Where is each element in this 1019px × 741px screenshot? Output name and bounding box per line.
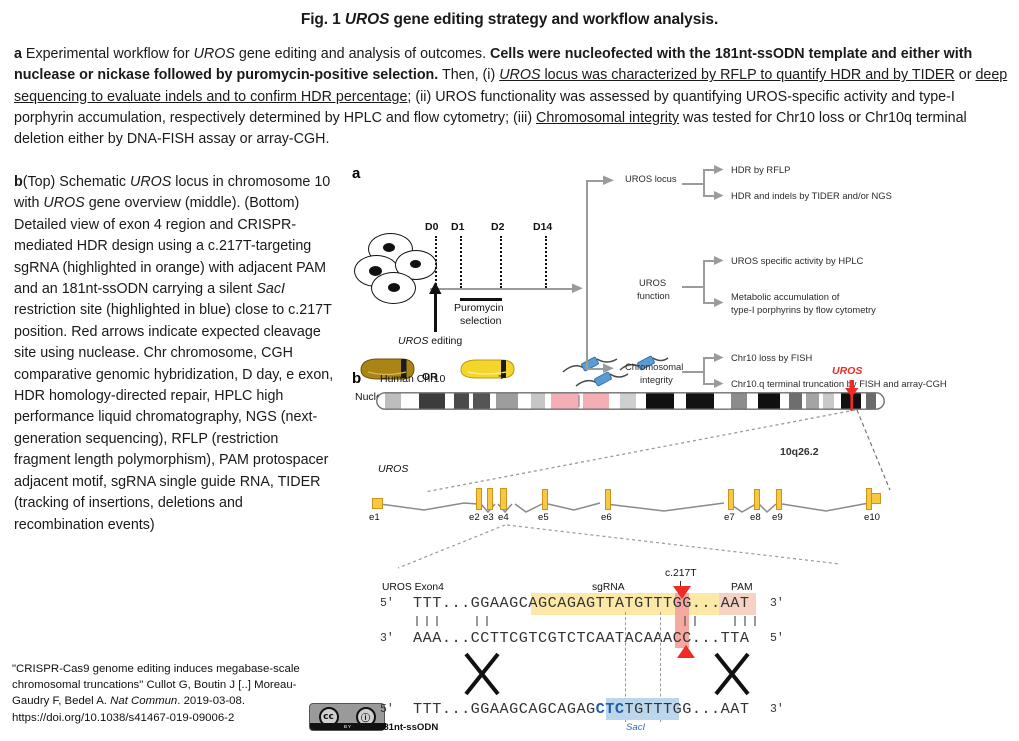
output-chr10-fish: Chr10 loss by FISH (731, 352, 812, 364)
branch-1-arrow-icon (603, 173, 619, 189)
exon-label-e1: e1 (369, 512, 380, 524)
exon-box-e7 (728, 489, 734, 510)
exon-label-e3: e3 (483, 512, 494, 524)
branch-trunk (586, 180, 588, 370)
subbranch-3b-arrow-icon (714, 377, 728, 391)
subbranch-3-stem (682, 371, 704, 373)
gene-structure-diagram (364, 482, 904, 522)
exon-label-e5: e5 (538, 512, 549, 524)
editing-arrow-head-icon (427, 282, 445, 296)
citation-line-3b: . 2019-03-08. (177, 695, 245, 707)
detail-exon-label-gene: UROS (382, 582, 412, 593)
pam-label: PAM (731, 582, 753, 594)
timeline-label-d2: D2 (491, 222, 504, 234)
subbranch-1b-arrow-icon (714, 189, 728, 203)
caption-a-gene1: UROS (194, 46, 235, 62)
branch-3-title-line2: integrity (640, 374, 673, 386)
ssodn-sequence: TTT...GGAAGCAGCAGAGCTCTGTTTGG...AAT (413, 700, 750, 718)
subbranch-3-vert (703, 357, 705, 385)
uros-marker-label: UROS (832, 366, 862, 378)
chromosome-ideogram (376, 392, 885, 410)
figure-title-gene: UROS (345, 11, 389, 28)
nickase-icon (461, 360, 514, 378)
branch-3-arrow-icon (603, 361, 619, 377)
uros-red-arrow-icon (843, 380, 863, 412)
output-metabolic-line2: type-I porphyrins by flow cytometry (731, 304, 876, 316)
top-strand-sequence: TTT...GGAAGCAGCAGAGTTATGTTTGG...AAT (413, 594, 750, 612)
caption-b-gene3: SacI (256, 281, 285, 297)
caption-panel-a: a Experimental workflow for UROS gene ed… (14, 44, 1008, 150)
figure-title-prefix: Fig. 1 (301, 11, 345, 28)
panel-b-letter: b (352, 370, 361, 387)
output-chr10q-truncation: Chr10.q terminal truncation by FISH and … (731, 378, 947, 390)
subbranch-1-vert (703, 169, 705, 197)
base-pair-bonds (413, 615, 773, 629)
caption-a-t2: gene editing and analysis of outcomes. (235, 46, 490, 62)
sgrna-label: sgRNA (592, 582, 625, 594)
branch-1-title: UROS locus (625, 173, 677, 185)
exon-label-e2: e2 (469, 512, 480, 524)
ssodn-strand-5prime: 5′ (380, 703, 394, 716)
bottom-strand-5prime: 5′ (770, 632, 784, 645)
figure-title-rest: gene editing strategy and workflow analy… (389, 11, 718, 28)
branch-1-title-gene: UROS (625, 173, 652, 184)
bottom-strand-sequence: AAA...CCTTCGTCGTCTCAATACAAACC...TTA (413, 629, 750, 647)
c217t-label: c.217T (665, 568, 696, 580)
figure-canvas: a D0 D1 D2 D14 Puromycin selection UROS … (340, 160, 1019, 741)
caption-b-label: b (14, 174, 23, 190)
branch-3-title-line1: Chromosomal (625, 361, 683, 373)
exon-label-e4: e4 (498, 512, 509, 524)
exon-box-e9 (776, 489, 782, 510)
top-strand-3prime: 3′ (770, 597, 784, 610)
subbranch-1-stem (682, 183, 704, 185)
subbranch-1a-arrow-icon (714, 163, 728, 177)
ssodn-seq-pre: TTT...GGAAGCAGCAGAG (413, 700, 596, 718)
citation-line-2: chromosomal truncations" Cullot G, Bouti… (12, 677, 387, 693)
plus-sign: + (498, 370, 506, 382)
tick-d1 (460, 236, 462, 288)
editing-label-rest: editing (428, 335, 462, 347)
caption-b-t1: (Top) Schematic (23, 174, 130, 190)
caption-b-t4: restriction site (highlighted in blue) c… (14, 302, 333, 532)
exon-label-e9: e9 (772, 512, 783, 524)
band-label-10q262: 10q26.2 (780, 447, 819, 459)
exon-box-e10-utr (871, 493, 881, 504)
exon-label-e8: e8 (750, 512, 761, 524)
puromycin-bar (460, 298, 502, 301)
exon-box-e6 (605, 489, 611, 510)
exon-box-e4 (500, 488, 507, 510)
panel-a-letter: a (352, 165, 360, 182)
exon-label-e10: e10 (864, 512, 880, 524)
exon-box-e2 (476, 488, 482, 510)
ssodn-strand-3prime: 3′ (770, 703, 784, 716)
caption-b-gene2: UROS (43, 195, 84, 211)
crossover-left-icon (460, 650, 510, 700)
caption-a-label: a (14, 46, 22, 62)
editing-label: UROS editing (398, 336, 462, 348)
top-strand-5prime: 5′ (380, 597, 394, 610)
crossover-right-icon (710, 650, 760, 700)
subbranch-2-vert (703, 260, 705, 304)
gene-label-uros: UROS (378, 464, 408, 476)
timeline-axis (430, 288, 578, 290)
caption-a-t4: or (955, 67, 976, 83)
figure-title: Fig. 1 UROS gene editing strategy and wo… (0, 11, 1019, 29)
output-metabolic-line1: Metabolic accumulation of (731, 291, 839, 303)
editing-label-gene: UROS (398, 335, 428, 347)
puromycin-label-line2: selection (460, 316, 501, 328)
timeline-label-d0: D0 (425, 222, 438, 234)
output-uros-hplc: UROS specific activity by HPLC (731, 255, 863, 267)
puromycin-label-line1: Puromycin (454, 303, 504, 315)
saci-label: SacI (626, 722, 645, 734)
timeline-label-d14: D14 (533, 222, 552, 234)
editing-arrow-shaft (434, 292, 437, 332)
output-hdr-rflp: HDR by RFLP (731, 164, 790, 176)
bottom-strand-3prime: 3′ (380, 632, 394, 645)
tick-d2 (500, 236, 502, 288)
tick-d0 (435, 236, 437, 288)
exon-box-e1 (372, 498, 383, 509)
exon-box-e5 (542, 489, 548, 510)
chromosome-title: Human Chr10 (380, 374, 445, 386)
timeline-label-d1: D1 (451, 222, 464, 234)
citation-line-3a: Gaudry F, Bedel A. (12, 695, 110, 707)
exon-box-e8 (754, 489, 760, 510)
caption-b-gene1: UROS (130, 174, 171, 190)
subbranch-2a-arrow-icon (714, 254, 728, 268)
detail-exon-label-rest: Exon4 (412, 582, 444, 593)
cleavage-arrow-bottom-icon (675, 644, 697, 660)
tick-d14 (545, 236, 547, 288)
exon-label-e6: e6 (601, 512, 612, 524)
ssodn-name-label: 181nt-ssODN (378, 722, 438, 734)
caption-a-u1-gene: UROS (499, 67, 540, 83)
caption-a-t3: Then, (i) (438, 67, 499, 83)
branch-2-title-line2: function (637, 290, 670, 302)
citation-journal: Nat Commun (110, 695, 177, 707)
exon-box-e3 (487, 488, 493, 510)
citation-line-1: "CRISPR-Cas9 genome editing induces mega… (12, 661, 387, 677)
subbranch-3a-arrow-icon (714, 351, 728, 365)
cleavage-arrow-top-icon (671, 585, 693, 601)
ssodn-seq-post: TGTTTGG...AAT (625, 700, 750, 718)
ssodn-seq-saci: CTC (596, 700, 625, 718)
subbranch-2-stem (682, 286, 704, 288)
caption-panel-b: b(Top) Schematic UROS locus in chromosom… (14, 172, 334, 536)
detail-exon-label: UROS Exon4 (382, 582, 444, 594)
branch-1-title-rest: locus (652, 173, 677, 184)
zoom-guide-lines-2 (370, 522, 930, 572)
subbranch-2b-arrow-icon (714, 296, 728, 310)
caption-a-t1: Experimental workflow for (22, 46, 194, 62)
caption-a-u3: Chromosomal integrity (536, 110, 679, 126)
output-hdr-tider: HDR and indels by TIDER and/or NGS (731, 190, 892, 202)
exon-label-e7: e7 (724, 512, 735, 524)
branch-2-title-line1: UROS (639, 277, 666, 289)
caption-a-u1: locus was characterized by RFLP to quant… (541, 67, 955, 83)
